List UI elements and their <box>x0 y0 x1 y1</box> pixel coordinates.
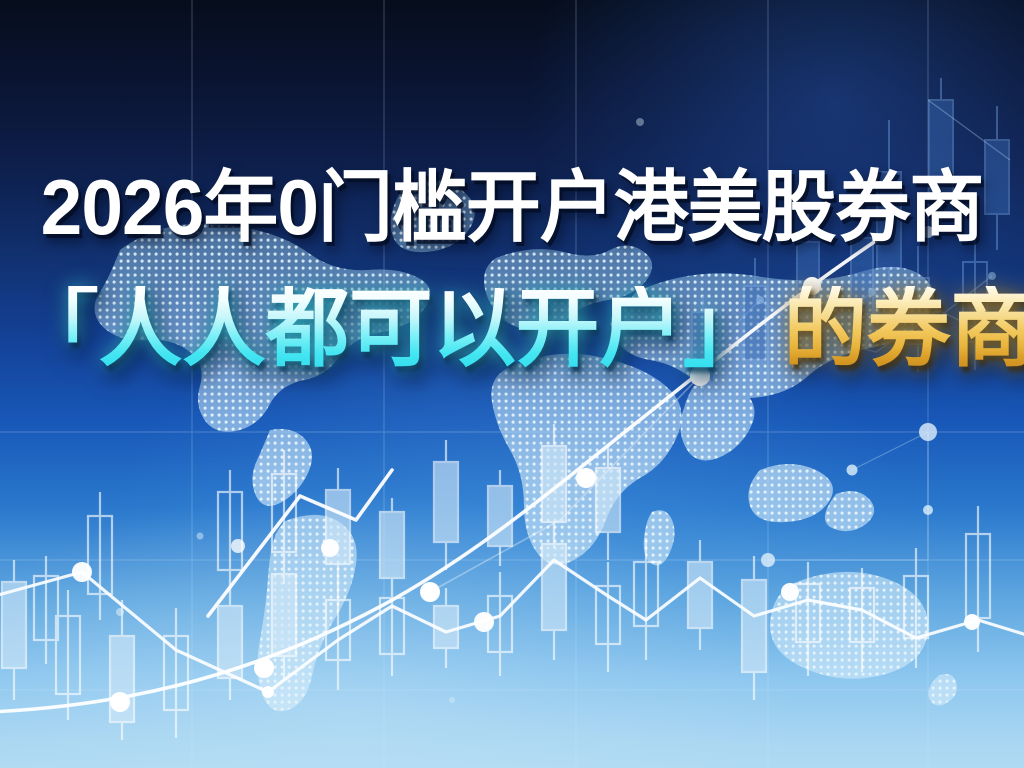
bracket-open: 「 <box>15 286 98 372</box>
headline-suffix: 的券商 <box>784 286 1024 372</box>
headline-line-2: 「人人都可以开户」的券商 <box>15 286 1008 372</box>
poster-canvas: 2026年0门槛开户港美股券商 「人人都可以开户」的券商 <box>0 0 1024 768</box>
headline-highlight: 人人都可以开户 <box>99 286 683 372</box>
headline-block: 2026年0门槛开户港美股券商 「人人都可以开户」的券商 <box>0 168 1024 372</box>
network-node-overlay <box>0 0 1024 768</box>
bracket-close: 」 <box>683 286 766 372</box>
headline-line-1: 2026年0门槛开户港美股券商 <box>20 168 1003 246</box>
